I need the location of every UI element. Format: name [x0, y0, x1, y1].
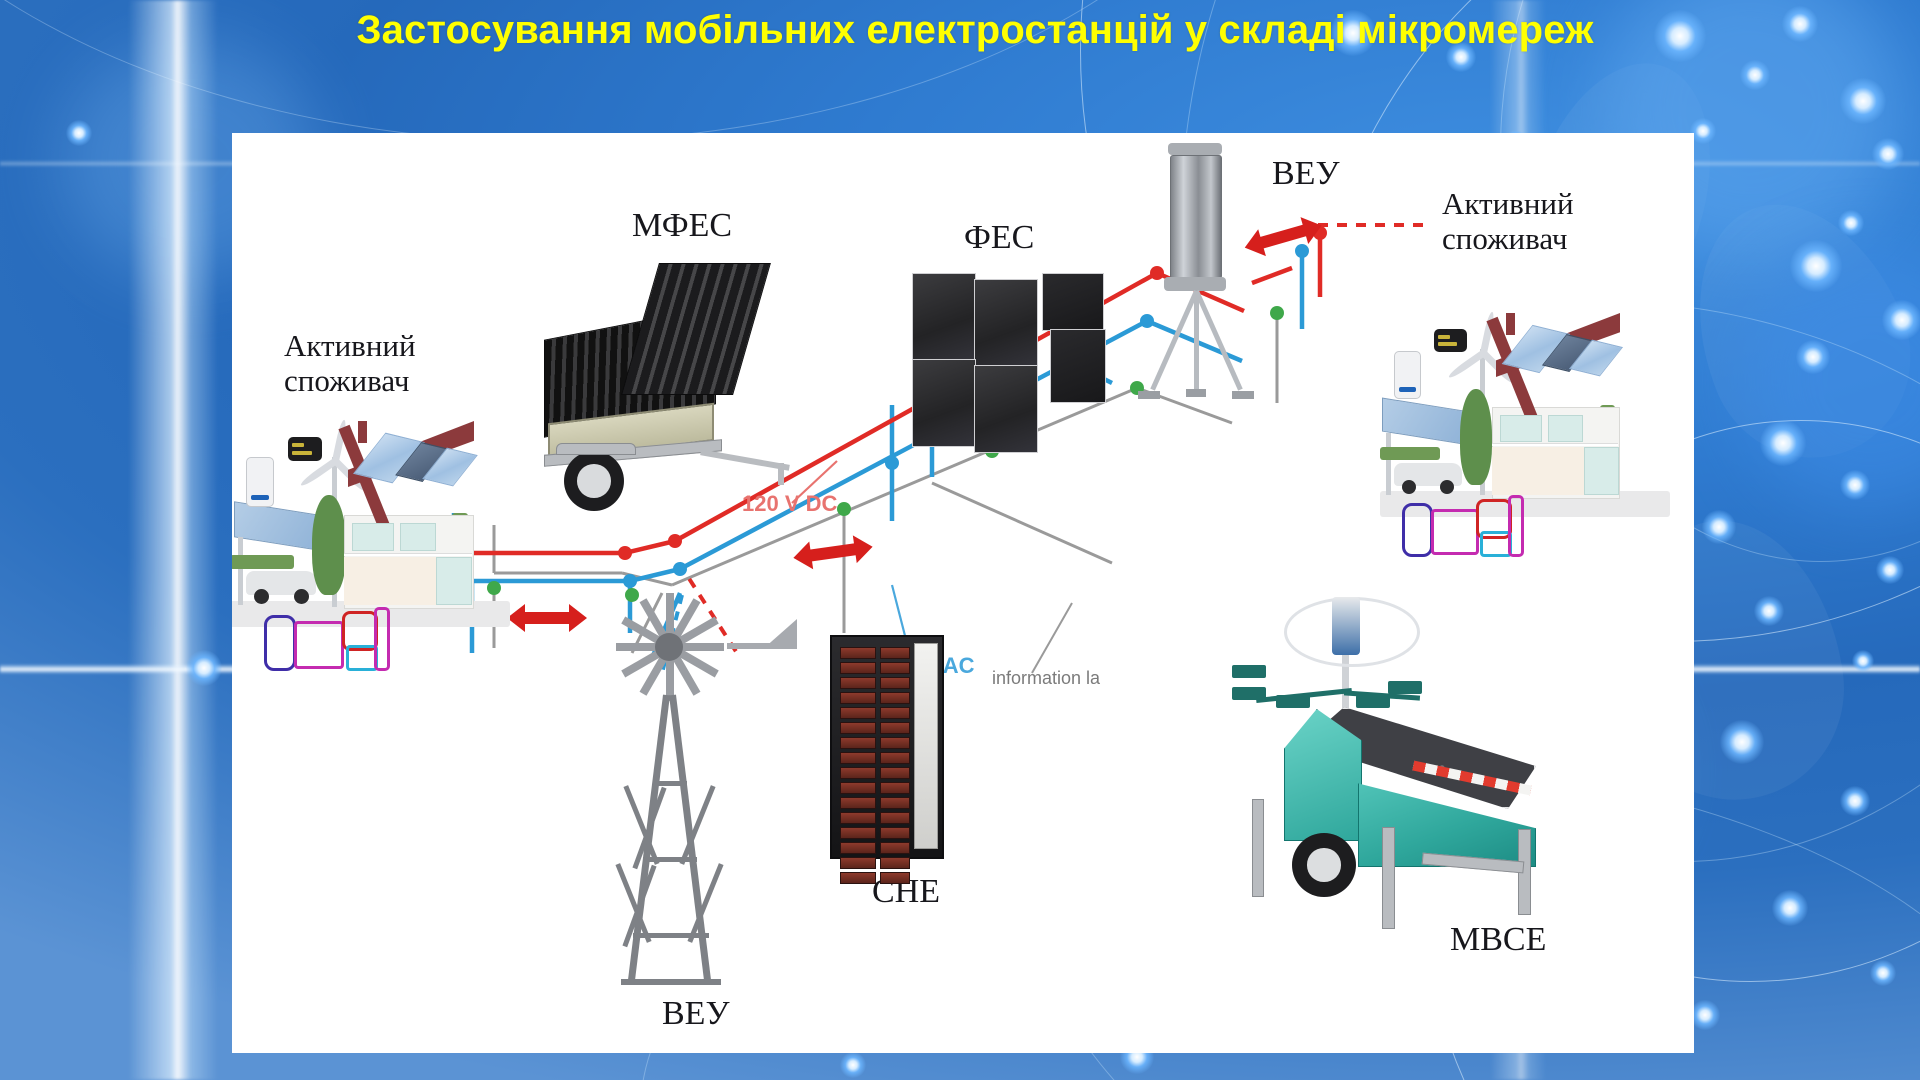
- background-star: [1790, 240, 1842, 292]
- background-star: [1840, 78, 1886, 124]
- tower-brace: [653, 781, 687, 786]
- battery-cell: [880, 797, 910, 809]
- battery-cell: [880, 857, 910, 869]
- label-line-1: Активний: [284, 328, 416, 363]
- car-tyre: [1440, 480, 1454, 494]
- battery-cell: [840, 767, 876, 779]
- house-window: [1584, 447, 1619, 495]
- battery-cell: [880, 872, 910, 884]
- background-star: [1840, 470, 1870, 500]
- turbine-rotor: [1170, 155, 1222, 279]
- label-line-2: споживач: [284, 363, 409, 398]
- turbine-foot: [1232, 391, 1254, 399]
- battery-cell: [880, 812, 910, 824]
- carport-post: [238, 537, 243, 605]
- house-floor: [344, 553, 472, 556]
- battery-cell: [840, 857, 876, 869]
- tyre-hub: [577, 464, 611, 498]
- turbine-foot: [1186, 389, 1206, 397]
- windmill-hub: [655, 633, 683, 661]
- mobile-pv-trailer: [522, 251, 822, 511]
- battery-cell: [880, 677, 910, 689]
- battery-cell: [840, 737, 876, 749]
- pv-module: [974, 365, 1038, 453]
- house-window: [400, 523, 436, 551]
- heat-pump-schematic: [264, 611, 424, 667]
- battery-cell: [840, 662, 876, 674]
- battery-cell: [840, 812, 876, 824]
- outrigger-leg: [1382, 827, 1395, 929]
- vertical-axis-wind-turbine: [1112, 143, 1302, 403]
- wall-charger: [1394, 351, 1421, 399]
- pv-module: [1050, 329, 1106, 403]
- active-consumer-house-right: [1372, 293, 1672, 553]
- background-star: [1852, 650, 1874, 672]
- background-star: [1840, 786, 1870, 816]
- battery-cell: [880, 782, 910, 794]
- label-mobile-pv-plant: МФЕС: [632, 207, 732, 245]
- battery-cell: [840, 827, 876, 839]
- turbine-foot: [1138, 391, 1160, 399]
- battery-cell: [840, 707, 876, 719]
- meter-box: [1434, 329, 1467, 352]
- battery-cell: [880, 722, 910, 734]
- heat-exchanger-coil: [264, 615, 296, 671]
- background-star: [1872, 138, 1904, 170]
- folded-solar-panel-stack: [621, 263, 771, 395]
- battery-cell: [840, 782, 876, 794]
- heat-pump-pipe: [1508, 495, 1524, 557]
- trailer-tow-bar: [700, 449, 790, 471]
- battery-cell: [840, 797, 876, 809]
- house-window: [1500, 415, 1542, 442]
- trailer-tyre: [1292, 833, 1356, 897]
- flood-lamp: [1276, 695, 1310, 708]
- background-star: [1772, 890, 1808, 926]
- house-window: [1548, 415, 1583, 442]
- house-window: [352, 523, 394, 551]
- background-star: [1760, 420, 1806, 466]
- hedge: [232, 555, 294, 569]
- turbine-leg: [1150, 290, 1198, 391]
- label-active-consumer-left: Активний споживач: [284, 329, 416, 398]
- trailer-jack: [778, 463, 784, 485]
- battery-cell: [880, 827, 910, 839]
- background-star: [1876, 556, 1904, 584]
- battery-cell: [880, 842, 910, 854]
- windmill-fan: [607, 585, 731, 709]
- wall-charger: [246, 457, 274, 507]
- background-star: [1796, 340, 1830, 374]
- background-star: [66, 120, 92, 146]
- battery-cell: [840, 752, 876, 764]
- outrigger-leg: [1252, 799, 1264, 897]
- carport-post: [1386, 433, 1391, 495]
- battery-cell: [840, 842, 876, 854]
- background-star: [1882, 300, 1920, 340]
- background-star: [1720, 720, 1764, 764]
- flood-lamp: [1388, 681, 1422, 694]
- battery-cell: [840, 872, 876, 884]
- background-star: [1702, 510, 1736, 544]
- label-line-2: споживач: [1442, 221, 1567, 256]
- flood-lamp: [1232, 687, 1266, 700]
- house-floor: [1492, 443, 1618, 446]
- turbine-leg: [1194, 291, 1199, 395]
- background-star: [1754, 596, 1784, 626]
- page-title: Застосування мобільних електростанцій у …: [0, 8, 1920, 53]
- tower-brace: [621, 979, 721, 985]
- information-line-label: information la: [992, 668, 1100, 689]
- chimney: [358, 421, 367, 443]
- battery-column: [880, 647, 910, 884]
- battery-cell: [880, 752, 910, 764]
- label-line-1: Активний: [1442, 186, 1574, 221]
- heat-exchanger-coil: [1402, 503, 1433, 557]
- label-pv-plant: ФЕС: [964, 219, 1034, 257]
- background-star: [1838, 210, 1864, 236]
- battery-cell: [880, 767, 910, 779]
- meter-box: [288, 437, 322, 461]
- battery-cell: [840, 722, 876, 734]
- heat-pump-schematic: [1402, 499, 1562, 555]
- battery-storage-cabinet: [830, 635, 970, 861]
- car-tyre: [1402, 480, 1416, 494]
- background-star: [186, 650, 222, 686]
- battery-cell: [880, 707, 910, 719]
- cabinet-door-panel: [914, 643, 938, 849]
- flood-lamp: [1356, 695, 1390, 708]
- battery-cell: [840, 647, 876, 659]
- label-active-consumer-right: Активний споживач: [1442, 187, 1574, 256]
- turbine-base-cap: [1164, 277, 1226, 291]
- heat-exchanger-coil: [294, 621, 344, 669]
- battery-cell: [840, 677, 876, 689]
- mobile-hybrid-power-trailer: [1232, 589, 1612, 929]
- battery-cell: [840, 692, 876, 704]
- tyre-hub: [1307, 848, 1340, 881]
- pv-module: [912, 359, 976, 447]
- pv-module: [974, 279, 1038, 367]
- windmill-wind-turbine: [577, 585, 807, 985]
- heat-pump-pipe: [374, 607, 390, 671]
- tree: [1460, 389, 1492, 485]
- battery-cell: [880, 647, 910, 659]
- car-tyre: [294, 589, 309, 604]
- turbine-leg: [1194, 290, 1242, 391]
- house-window: [436, 557, 472, 605]
- pv-module: [912, 273, 976, 361]
- background-star: [840, 1052, 866, 1078]
- car-tyre: [254, 589, 269, 604]
- label-wind-turbine-bottom: ВЕУ: [662, 995, 730, 1033]
- vertical-wind-turbine: [1332, 597, 1360, 655]
- hedge: [1380, 447, 1440, 460]
- battery-cell: [880, 662, 910, 674]
- battery-cell: [880, 737, 910, 749]
- heat-exchanger-coil: [1431, 509, 1479, 555]
- background-star: [1870, 960, 1896, 986]
- background-star: [1740, 60, 1770, 90]
- pv-module: [1042, 273, 1104, 331]
- active-consumer-house-left: [232, 403, 520, 663]
- battery-column: [840, 647, 876, 884]
- tree: [312, 495, 346, 595]
- trailer-mudguard: [556, 443, 636, 455]
- chimney: [1506, 313, 1515, 335]
- diagram-panel: 120 V DC 380 V AC information la Активни…: [232, 133, 1694, 1053]
- fixed-pv-array: [912, 273, 1122, 503]
- flood-lamp: [1232, 665, 1266, 678]
- trailer-tyre: [564, 451, 624, 511]
- background-star: [1690, 1000, 1720, 1030]
- turbine-top-cap: [1168, 143, 1222, 155]
- battery-cell: [880, 692, 910, 704]
